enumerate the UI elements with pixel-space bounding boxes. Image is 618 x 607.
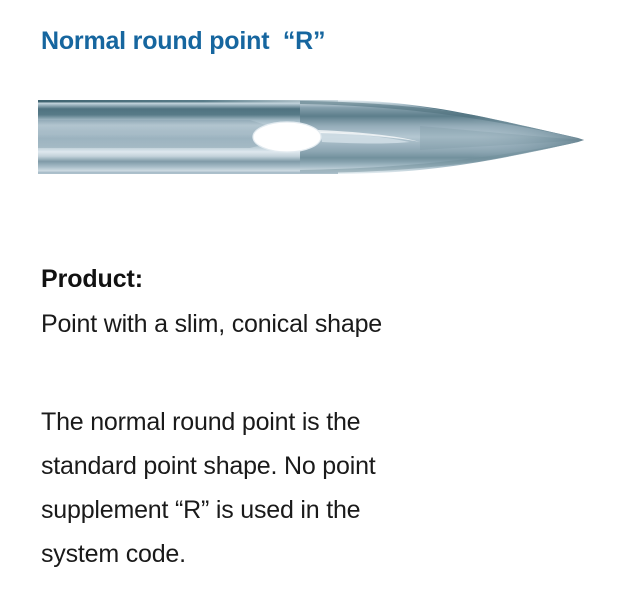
product-description: Point with a slim, conical shape xyxy=(41,308,382,341)
product-label: Product: xyxy=(41,264,143,295)
needle-info-card: Normal round point “R” xyxy=(0,0,618,607)
needle-body xyxy=(38,86,618,186)
body-line: supplement “R” is used in the xyxy=(41,488,561,532)
body-paragraph: The normal round point is the standard p… xyxy=(41,400,561,576)
needle-illustration-svg xyxy=(0,86,618,186)
body-line: The normal round point is the xyxy=(41,400,561,444)
body-line: standard point shape. No point xyxy=(41,444,561,488)
needle-figure xyxy=(0,86,618,186)
body-line: system code. xyxy=(41,532,561,576)
page-title: Normal round point “R” xyxy=(41,26,325,56)
